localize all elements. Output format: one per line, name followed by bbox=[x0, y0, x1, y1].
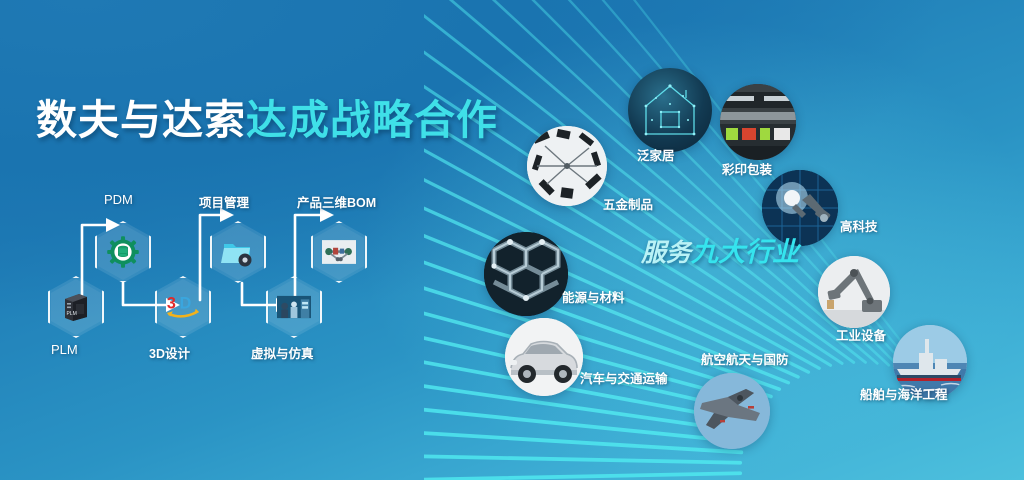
industry-label-aerospace-defense: 航空航天与国防 bbox=[701, 349, 789, 368]
smart-home-wireframe-icon bbox=[628, 68, 712, 152]
industry-label-hardware: 五金制品 bbox=[603, 194, 653, 213]
industry-circle-automotive[interactable] bbox=[505, 318, 583, 396]
industry-circle-printing[interactable] bbox=[720, 84, 796, 160]
robot-arm-icon bbox=[818, 256, 890, 328]
folder-gear-icon bbox=[221, 235, 255, 269]
industry-label-energy-materials: 能源与材料 bbox=[562, 287, 625, 306]
industry-circle-hardware[interactable] bbox=[527, 126, 607, 206]
server-tower-icon: PLM bbox=[59, 290, 93, 324]
badge-3: 3 bbox=[167, 295, 176, 313]
flow-node-project-mgmt[interactable] bbox=[210, 221, 266, 283]
banner-canvas: 数夫与达索达成战略合作 bbox=[0, 0, 1024, 480]
industry-circle-energy-materials[interactable] bbox=[484, 232, 568, 316]
svg-text:PLM: PLM bbox=[67, 311, 77, 317]
industry-circle-smart-home[interactable] bbox=[628, 68, 712, 152]
industries-headline: 服务九大行业 bbox=[641, 230, 799, 269]
hardware-tools-icon bbox=[527, 126, 607, 206]
flow-label-plm: PLM bbox=[51, 342, 78, 357]
flow-node-plm[interactable]: PLM bbox=[48, 276, 104, 338]
3d-design-icon: 3 D bbox=[166, 290, 200, 324]
industry-label-marine: 船舶与海洋工程 bbox=[860, 384, 948, 403]
headline-main: 九大行业 bbox=[691, 237, 799, 267]
gear-database-icon bbox=[106, 235, 140, 269]
plm-flow-diagram: PLM PLM bbox=[0, 0, 430, 480]
molecular-material-icon bbox=[484, 232, 568, 316]
printing-press-icon bbox=[720, 84, 796, 160]
flow-label-3d-bom: 产品三维BOM bbox=[297, 192, 376, 211]
industry-label-smart-home: 泛家居 bbox=[637, 145, 675, 164]
flow-label-pdm: PDM bbox=[104, 192, 133, 207]
flow-label-simulation: 虚拟与仿真 bbox=[251, 343, 314, 362]
flow-node-3d-design[interactable]: 3 D bbox=[155, 276, 211, 338]
flow-label-3d-design: 3D设计 bbox=[149, 343, 190, 362]
assembly-3d-icon bbox=[322, 235, 356, 269]
car-icon bbox=[505, 318, 583, 396]
badge-d: D bbox=[180, 295, 192, 313]
industry-circle-aerospace-defense[interactable] bbox=[694, 373, 770, 449]
headline-prefix: 服务 bbox=[641, 239, 691, 267]
industry-circle-industrial-equipment[interactable] bbox=[818, 256, 890, 328]
industry-label-automotive: 汽车与交通运输 bbox=[580, 368, 668, 387]
flow-node-simulation[interactable] bbox=[266, 276, 322, 338]
flow-node-3d-bom[interactable] bbox=[311, 221, 367, 283]
fighter-jet-icon bbox=[694, 373, 770, 449]
industry-label-hitech: 高科技 bbox=[840, 216, 878, 235]
industry-label-printing: 彩印包装 bbox=[722, 159, 772, 178]
industry-label-industrial-equipment: 工业设备 bbox=[836, 325, 886, 344]
flow-label-project-mgmt: 项目管理 bbox=[199, 192, 249, 211]
simulation-photo-icon bbox=[277, 290, 311, 324]
flow-node-pdm[interactable] bbox=[95, 221, 151, 283]
